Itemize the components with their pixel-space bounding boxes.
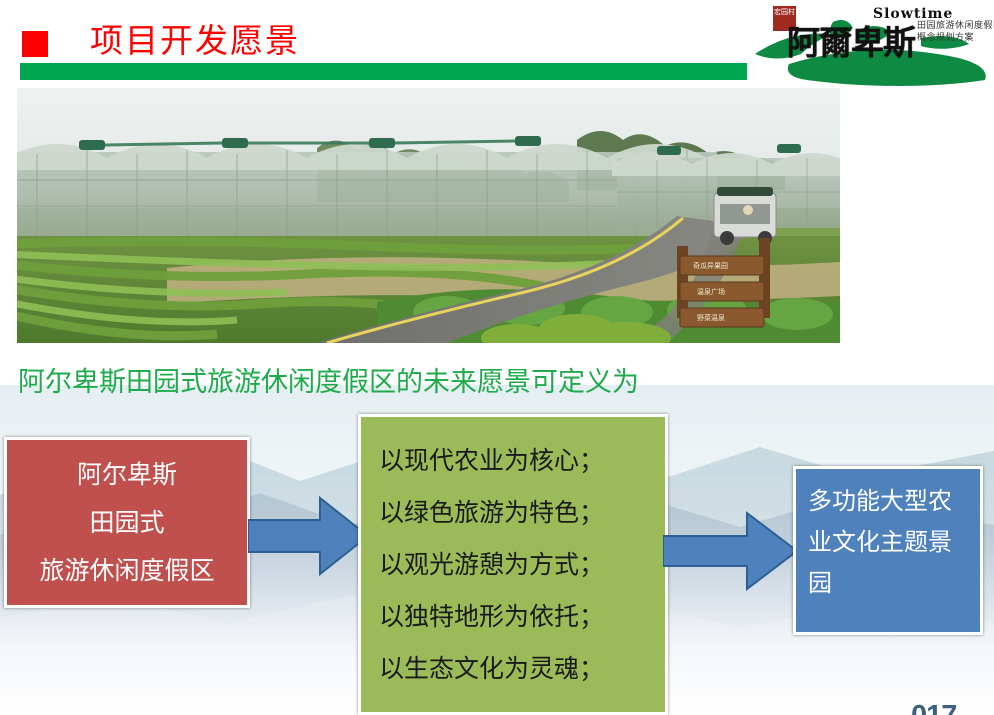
logo-subtitle-line1: 田园旅游休闲度假区 — [917, 19, 994, 31]
svg-text:温泉广场: 温泉广场 — [697, 287, 725, 296]
greenhouse-photo-svg: 奇瓜异果园 温泉广场 野菜温泉 — [17, 88, 840, 343]
source-box-line-1: 阿尔卑斯 — [77, 451, 177, 499]
source-box: 阿尔卑斯 田园式 旅游休闲度假区 — [4, 437, 250, 608]
vision-list-box: 以现代农业为核心； 以绿色旅游为特色； 以观光游憩为方式； 以独特地形为依托； … — [358, 414, 668, 715]
vision-item-5: 以生态文化为灵魂； — [379, 643, 665, 695]
svg-text:野菜温泉: 野菜温泉 — [697, 313, 725, 322]
vision-item-4: 以独特地形为依托； — [379, 591, 665, 643]
result-box: 多功能大型农 业文化主题景 园 — [793, 466, 983, 635]
arrow-right-icon-2 — [663, 508, 799, 594]
header-bullet-icon — [22, 31, 48, 57]
header-green-bar — [20, 63, 747, 80]
result-box-line-3: 园 — [808, 563, 980, 604]
vision-item-3: 以观光游憩为方式； — [379, 539, 665, 591]
page-title: 项目开发愿景 — [90, 14, 300, 62]
vision-item-2: 以绿色旅游为特色； — [379, 487, 665, 539]
svg-text:奇瓜异果园: 奇瓜异果园 — [693, 261, 728, 270]
arrow-right-icon-1 — [248, 494, 370, 578]
slide-canvas: 项目开发愿景 宏园村 Slowtime 阿爾卑斯 田园旅游休闲度假区 概念规划方… — [0, 0, 994, 715]
result-box-line-2: 业文化主题景 — [808, 522, 980, 563]
source-box-line-2: 田园式 — [89, 499, 164, 547]
page-number: 017 — [911, 700, 956, 715]
greenhouse-photo: 奇瓜异果园 温泉广场 野菜温泉 — [17, 88, 840, 343]
result-box-line-1: 多功能大型农 — [808, 481, 980, 522]
shuttle-cart-figure — [714, 187, 776, 245]
logo-main-text: 阿爾卑斯 — [787, 16, 915, 64]
lead-sentence: 阿尔卑斯田园式旅游休闲度假区的未来愿景可定义为 — [18, 360, 639, 399]
logo-subtitle: 田园旅游休闲度假区 概念规划方案 — [917, 19, 994, 43]
source-box-line-3: 旅游休闲度假区 — [39, 547, 214, 595]
brand-logo: 宏园村 Slowtime 阿爾卑斯 田园旅游休闲度假区 概念规划方案 — [745, 2, 994, 88]
logo-subtitle-line2: 概念规划方案 — [917, 31, 994, 43]
vision-item-1: 以现代农业为核心； — [379, 435, 665, 487]
